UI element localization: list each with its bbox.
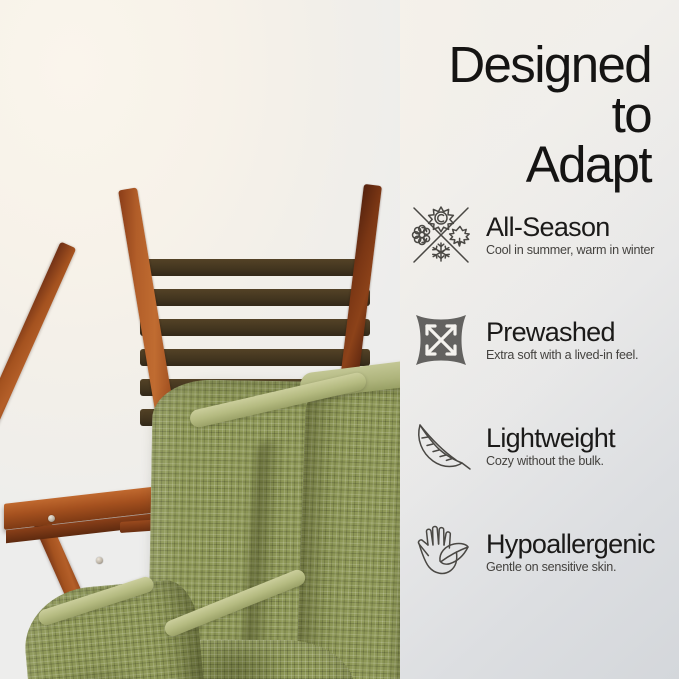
hand-leaf-icon xyxy=(406,517,476,587)
prewashed-pillow-icon xyxy=(406,305,476,375)
feature-title: Prewashed xyxy=(486,318,638,347)
feature-text: Prewashed Extra soft with a lived-in fee… xyxy=(476,318,638,363)
infographic-canvas: Designed to Adapt xyxy=(0,0,679,679)
title-line-2: Adapt xyxy=(399,140,651,190)
feature-title: Hypoallergenic xyxy=(486,530,655,559)
feature-subtitle: Extra soft with a lived-in feel. xyxy=(486,348,638,362)
feature-hypoallergenic: Hypoallergenic Gentle on sensitive skin. xyxy=(406,515,674,589)
feature-all-season: All-Season Cool in summer, warm in winte… xyxy=(406,198,674,272)
feature-lightweight: Lightweight Cozy without the bulk. xyxy=(406,409,674,483)
feature-title: Lightweight xyxy=(486,424,615,453)
blanket-drape-right xyxy=(293,373,400,679)
feature-text: All-Season Cool in summer, warm in winte… xyxy=(476,213,654,258)
feature-text: Lightweight Cozy without the bulk. xyxy=(476,424,615,469)
title-line-1: Designed to xyxy=(399,40,651,140)
page-title: Designed to Adapt xyxy=(399,40,651,190)
feather-icon xyxy=(406,411,476,481)
product-photo xyxy=(0,0,400,679)
feature-subtitle: Gentle on sensitive skin. xyxy=(486,560,655,574)
feature-title: All-Season xyxy=(486,213,654,242)
waffle-blanket xyxy=(0,185,400,679)
feature-subtitle: Cool in summer, warm in winter xyxy=(486,243,654,257)
feature-prewashed: Prewashed Extra soft with a lived-in fee… xyxy=(406,303,674,377)
feature-panel: Designed to Adapt xyxy=(398,0,679,679)
feature-text: Hypoallergenic Gentle on sensitive skin. xyxy=(476,530,655,575)
feature-subtitle: Cozy without the bulk. xyxy=(486,454,615,468)
four-seasons-icon xyxy=(406,200,476,270)
